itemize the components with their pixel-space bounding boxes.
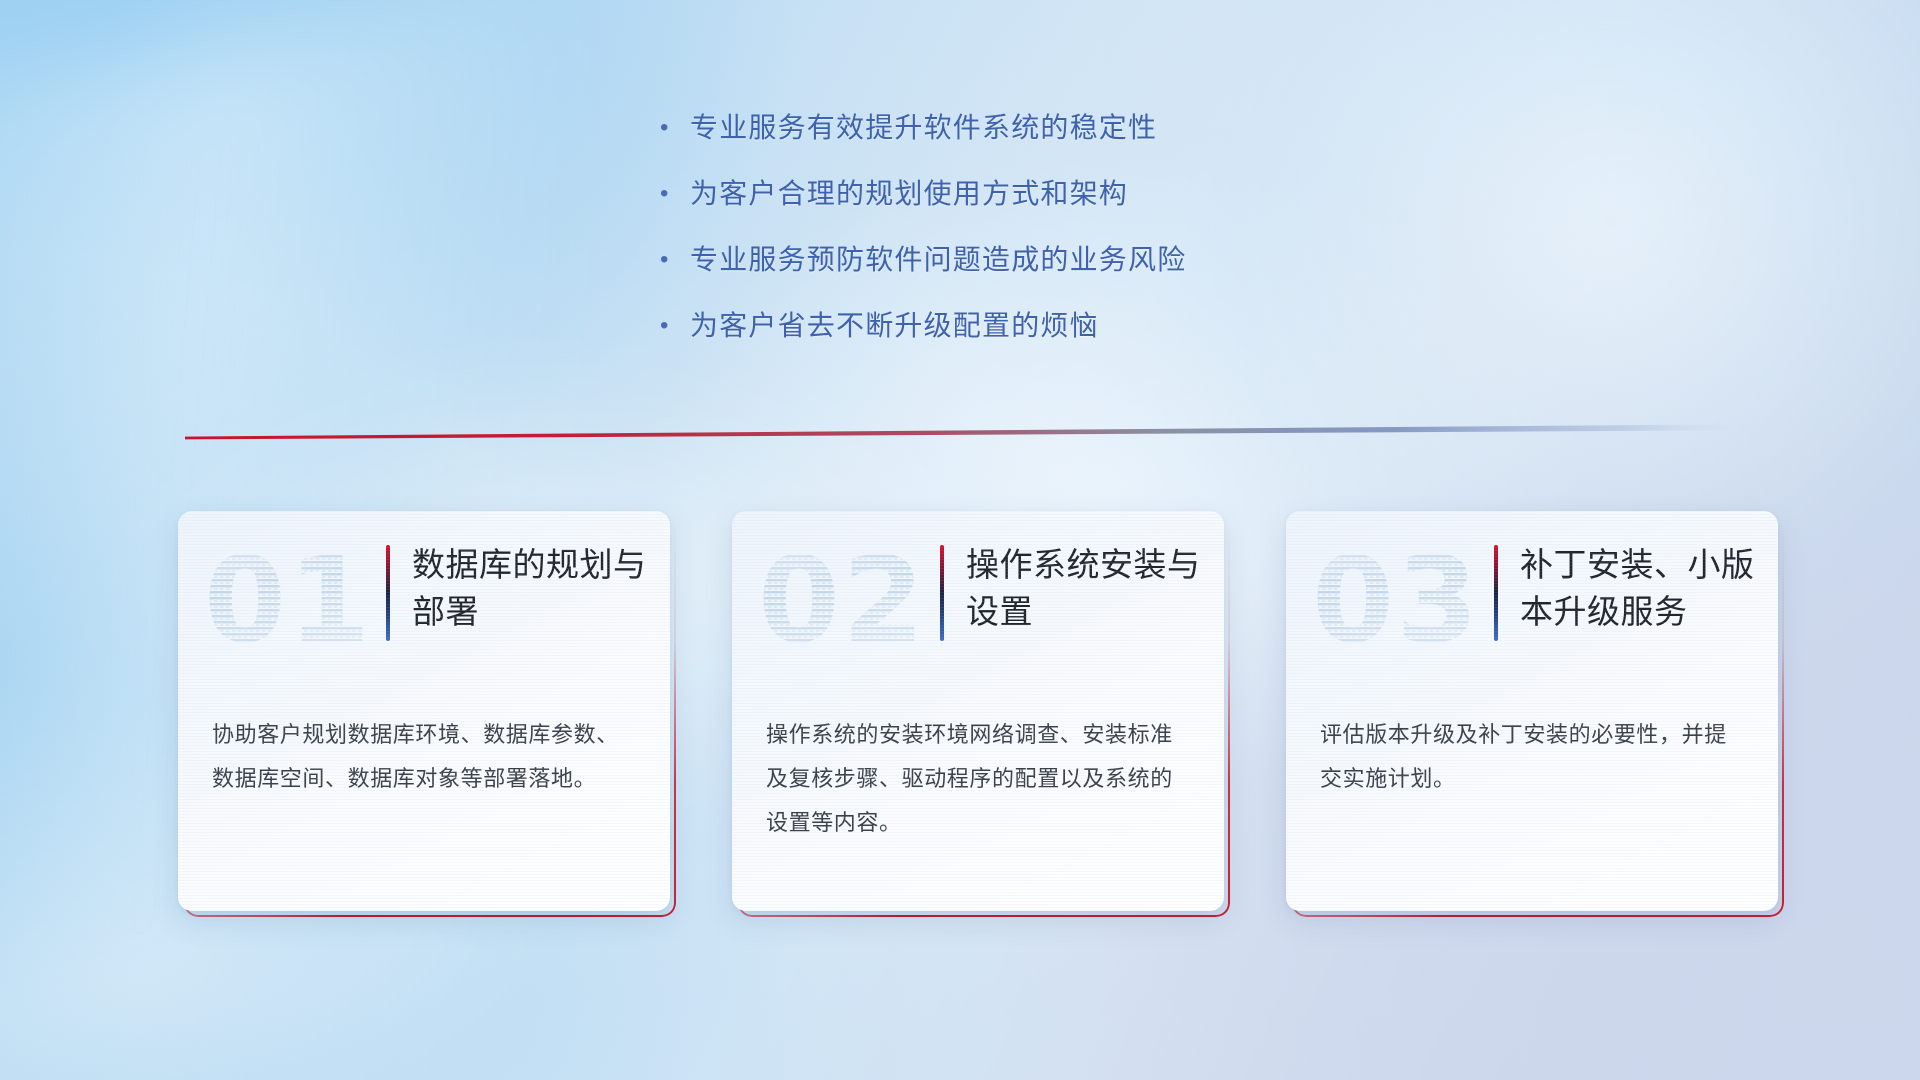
title-accent-rule bbox=[940, 545, 944, 641]
card-surface: 03 补丁安装、小版本升级服务 评估版本升级及补丁安装的必要性，并提交实施计划。 bbox=[1286, 511, 1778, 911]
svg-text:03: 03 bbox=[1312, 537, 1480, 657]
ghost-number-glyph: 01 bbox=[202, 537, 392, 657]
bullet-text-4: 为客户省去不断升级配置的烦恼 bbox=[690, 306, 1099, 346]
bullet-text-1: 专业服务有效提升软件系统的稳定性 bbox=[690, 108, 1157, 148]
card-number-02-ghost: 02 bbox=[756, 537, 946, 657]
svg-text:02: 02 bbox=[758, 537, 926, 657]
card-header: 补丁安装、小版本升级服务 bbox=[1494, 541, 1760, 641]
slide-canvas: • 专业服务有效提升软件系统的稳定性 • 为客户合理的规划使用方式和架构 • 专… bbox=[0, 0, 1920, 1080]
svg-text:01: 01 bbox=[204, 537, 372, 657]
section-divider-shape bbox=[185, 424, 1735, 442]
card-number-03-ghost: 03 bbox=[1310, 537, 1500, 657]
list-item: • 为客户合理的规划使用方式和架构 bbox=[660, 174, 1420, 214]
service-card-03[interactable]: 03 补丁安装、小版本升级服务 评估版本升级及补丁安装的必要性，并提交实施计划。 bbox=[1292, 517, 1784, 917]
list-item: • 专业服务有效提升软件系统的稳定性 bbox=[660, 108, 1420, 148]
card-title: 操作系统安装与设置 bbox=[966, 541, 1206, 635]
bullet-dot-icon: • bbox=[660, 108, 690, 148]
card-title: 补丁安装、小版本升级服务 bbox=[1520, 541, 1760, 635]
card-description: 操作系统的安装环境网络调查、安装标准及复核步骤、驱动程序的配置以及系统的设置等内… bbox=[766, 713, 1194, 845]
service-card-01[interactable]: 01 数据库的规划与部署 协助客户规划数据库环境、数据库参数、数据库空间、数据库… bbox=[184, 517, 676, 917]
ghost-number-glyph: 02 bbox=[756, 537, 946, 657]
list-item: • 专业服务预防软件问题造成的业务风险 bbox=[660, 240, 1420, 280]
section-divider bbox=[185, 424, 1735, 442]
card-title: 数据库的规划与部署 bbox=[412, 541, 652, 635]
list-item: • 为客户省去不断升级配置的烦恼 bbox=[660, 306, 1420, 346]
card-surface: 02 操作系统安装与设置 操作系统的安装环境网络调查、安装标准及复核步骤、驱动程… bbox=[732, 511, 1224, 911]
card-description: 评估版本升级及补丁安装的必要性，并提交实施计划。 bbox=[1320, 713, 1748, 801]
bullet-dot-icon: • bbox=[660, 240, 690, 280]
bullet-dot-icon: • bbox=[660, 174, 690, 214]
bullet-text-3: 专业服务预防软件问题造成的业务风险 bbox=[690, 240, 1186, 280]
service-card-02[interactable]: 02 操作系统安装与设置 操作系统的安装环境网络调查、安装标准及复核步骤、驱动程… bbox=[738, 517, 1230, 917]
card-number-01-ghost: 01 bbox=[202, 537, 392, 657]
card-description: 协助客户规划数据库环境、数据库参数、数据库空间、数据库对象等部署落地。 bbox=[212, 713, 640, 801]
title-accent-rule bbox=[1494, 545, 1498, 641]
service-card-row: 01 数据库的规划与部署 协助客户规划数据库环境、数据库参数、数据库空间、数据库… bbox=[184, 517, 1784, 917]
card-header: 操作系统安装与设置 bbox=[940, 541, 1206, 641]
ghost-number-glyph: 03 bbox=[1310, 537, 1500, 657]
card-header: 数据库的规划与部署 bbox=[386, 541, 652, 641]
bullet-text-2: 为客户合理的规划使用方式和架构 bbox=[690, 174, 1128, 214]
benefits-bullet-list: • 专业服务有效提升软件系统的稳定性 • 为客户合理的规划使用方式和架构 • 专… bbox=[660, 108, 1420, 372]
card-surface: 01 数据库的规划与部署 协助客户规划数据库环境、数据库参数、数据库空间、数据库… bbox=[178, 511, 670, 911]
title-accent-rule bbox=[386, 545, 390, 641]
bullet-dot-icon: • bbox=[660, 306, 690, 346]
